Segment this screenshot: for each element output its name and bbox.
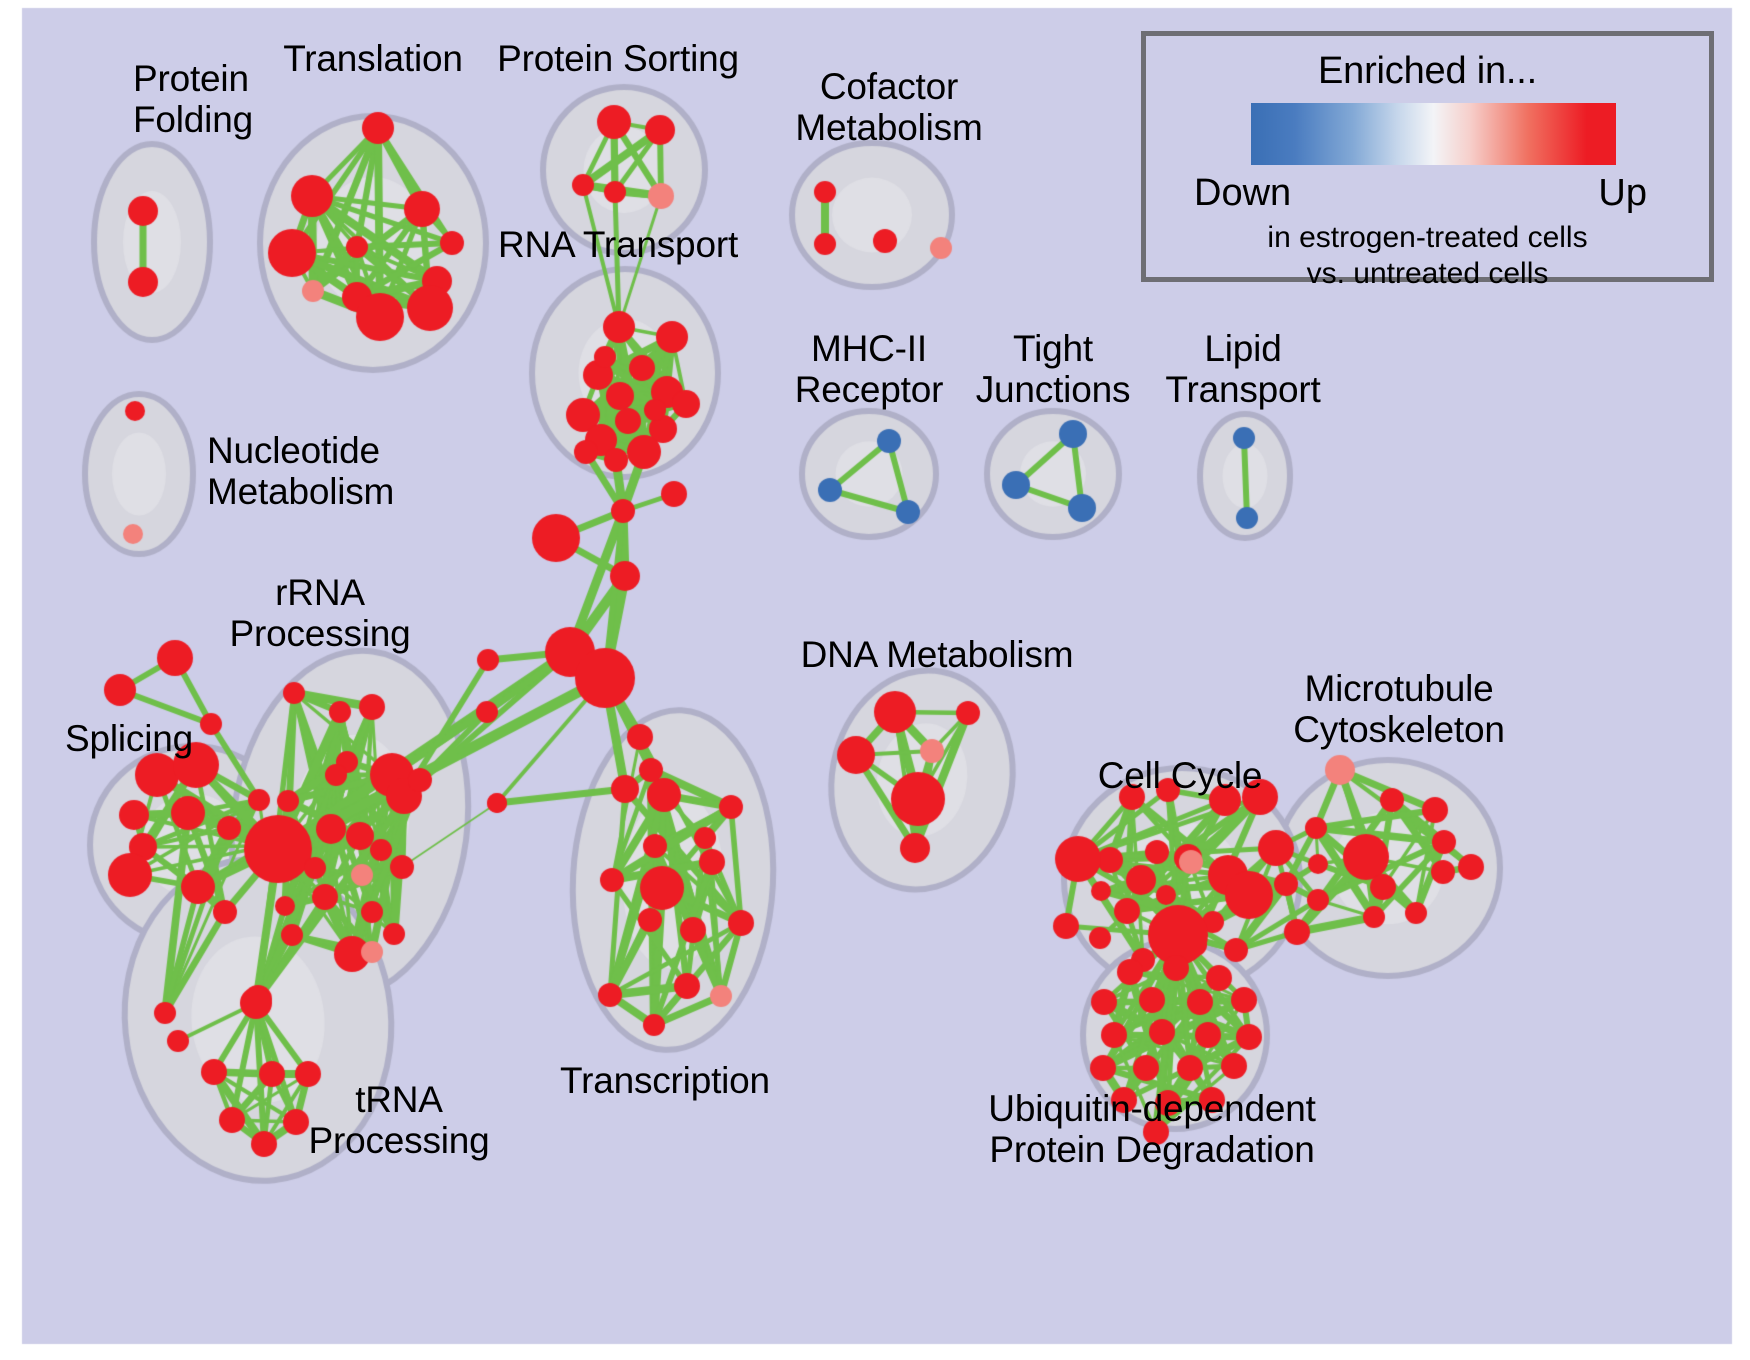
legend-subtitle-line2: vs. untreated cells [1146, 257, 1709, 291]
legend-title: Enriched in... [1146, 50, 1709, 93]
enrichment-map-figure: Protein FoldingTranslationProtein Sortin… [0, 0, 1750, 1360]
legend-color-gradient-bar [1251, 103, 1616, 165]
legend-subtitle-line1: in estrogen-treated cells [1146, 221, 1709, 255]
legend-box: Enriched in... Down Up in estrogen-treat… [1141, 31, 1714, 282]
legend-low-label: Down [1194, 172, 1291, 215]
legend-high-label: Up [1598, 172, 1647, 215]
